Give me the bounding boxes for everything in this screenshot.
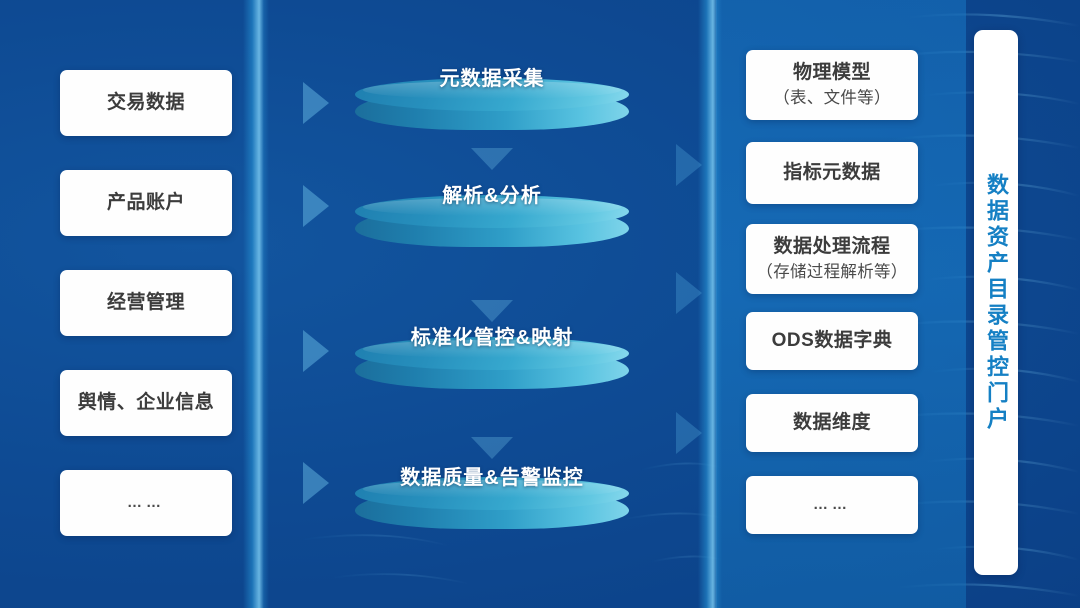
card-label: 数据维度 [793, 411, 871, 435]
stage-flow-arrow-3 [471, 437, 513, 459]
pipeline-stage-metadata-collection[interactable]: 元数据采集 [355, 78, 629, 140]
output-card-ods-data-dictionary[interactable]: ODS数据字典 [746, 312, 918, 370]
card-label: 经营管理 [107, 291, 185, 315]
pipeline-to-output-arrow-1 [676, 144, 702, 186]
stage-flow-arrow-2 [471, 300, 513, 322]
ellipsis-label: …… [127, 493, 165, 512]
stage-label: 标准化管控&映射 [355, 321, 629, 350]
output-card-metric-metadata[interactable]: 指标元数据 [746, 142, 918, 204]
pipeline-stage-data-quality-alert-monitoring[interactable]: 数据质量&告警监控 [355, 477, 629, 539]
card-label: 物理模型 [793, 61, 871, 85]
source-card-transaction-data[interactable]: 交易数据 [60, 70, 232, 136]
source-to-pipeline-arrow-3 [303, 330, 329, 372]
pipeline-stage-standardization-mapping[interactable]: 标准化管控&映射 [355, 337, 629, 399]
source-card-more[interactable]: …… [60, 470, 232, 536]
card-label: 产品账户 [107, 191, 185, 215]
card-label: 指标元数据 [783, 161, 881, 185]
card-label: 舆情、企业信息 [78, 391, 215, 415]
pipeline-to-output-arrow-2 [676, 272, 702, 314]
card-label: 交易数据 [107, 91, 185, 115]
source-to-pipeline-arrow-1 [303, 82, 329, 124]
stage-label: 元数据采集 [355, 62, 629, 91]
stage-label: 解析&分析 [355, 179, 629, 208]
card-label: 数据处理流程 [773, 235, 890, 259]
divider-band-left [243, 0, 269, 608]
stage-flow-arrow-1 [471, 148, 513, 170]
output-card-physical-model[interactable]: 物理模型 （表、文件等） [746, 50, 918, 120]
source-card-public-opinion-enterprise-info[interactable]: 舆情、企业信息 [60, 370, 232, 436]
output-card-data-dimension[interactable]: 数据维度 [746, 394, 918, 452]
pipeline-to-output-arrow-3 [676, 412, 702, 454]
output-card-data-processing-flow[interactable]: 数据处理流程 （存储过程解析等） [746, 224, 918, 294]
card-sublabel: （表、文件等） [773, 88, 891, 109]
card-sublabel: （存储过程解析等） [756, 262, 907, 283]
output-card-more[interactable]: …… [746, 476, 918, 534]
ellipsis-label: …… [813, 495, 851, 514]
portal-label: 数据资产目录管控门户 [985, 173, 1007, 433]
stage-label: 数据质量&告警监控 [355, 461, 629, 490]
diagram-canvas: 交易数据 产品账户 经营管理 舆情、企业信息 …… 元数据采集 解析&分析 标准… [0, 0, 1080, 608]
source-to-pipeline-arrow-2 [303, 185, 329, 227]
portal-panel[interactable]: 数据资产目录管控门户 [974, 30, 1018, 575]
source-to-pipeline-arrow-4 [303, 462, 329, 504]
card-label: ODS数据字典 [772, 329, 893, 353]
source-card-product-account[interactable]: 产品账户 [60, 170, 232, 236]
source-card-business-management[interactable]: 经营管理 [60, 270, 232, 336]
pipeline-stage-parse-analyze[interactable]: 解析&分析 [355, 195, 629, 257]
